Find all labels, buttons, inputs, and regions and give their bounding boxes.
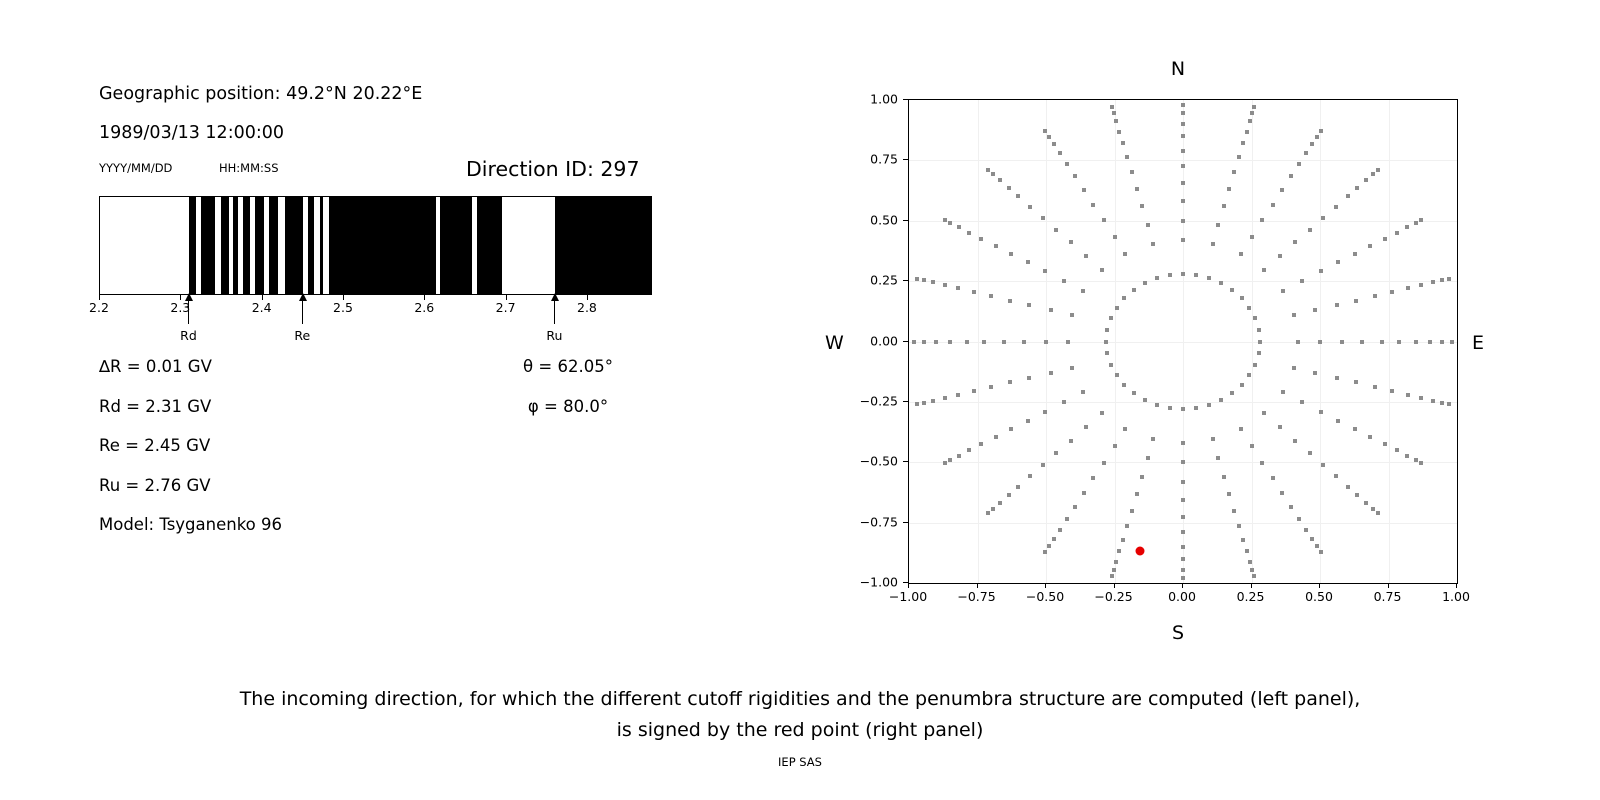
direction-point (1300, 279, 1304, 283)
direction-point (1262, 411, 1266, 415)
penumbra-forbidden-band (477, 197, 502, 294)
direction-point (1232, 170, 1236, 174)
direction-point (1044, 340, 1048, 344)
direction-point (1431, 399, 1435, 403)
direction-point (1354, 380, 1358, 384)
gridline-horizontal (909, 523, 1457, 524)
direction-point (1058, 528, 1062, 532)
direction-point (1405, 454, 1409, 458)
direction-point (1105, 351, 1109, 355)
direction-point (1364, 501, 1368, 505)
direction-map-y-tick-label: 0.50 (843, 212, 898, 227)
direction-point (1181, 149, 1185, 153)
direction-point (1123, 427, 1127, 431)
direction-point (1300, 400, 1304, 404)
direction-point (1340, 340, 1344, 344)
direction-point (1151, 242, 1155, 246)
direction-map-x-tick (1456, 583, 1457, 588)
direction-point (967, 231, 971, 235)
direction-point (948, 458, 952, 462)
direction-point (1355, 186, 1359, 190)
direction-point (1380, 340, 1384, 344)
penumbra-forbidden-band (329, 197, 436, 294)
direction-point (1181, 480, 1185, 484)
direction-point (1353, 427, 1357, 431)
direction-map-y-tick-label: −0.25 (843, 393, 898, 408)
direction-point (989, 385, 993, 389)
direction-point (1440, 340, 1444, 344)
direction-point (1104, 340, 1108, 344)
direction-map-y-tick (903, 461, 908, 462)
direction-point (1194, 406, 1198, 410)
direction-point (1181, 164, 1185, 168)
direction-point (1181, 545, 1185, 549)
direction-point (1181, 122, 1185, 126)
penumbra-marker-label-rd: Rd (180, 328, 197, 343)
direction-map-y-tick (903, 280, 908, 281)
direction-point (1253, 316, 1257, 320)
compass-south-label: S (1172, 622, 1184, 644)
penumbra-forbidden-band (221, 197, 229, 294)
direction-map-x-tick-label: −0.50 (1026, 589, 1064, 604)
direction-point (1248, 560, 1252, 564)
direction-point (1239, 252, 1243, 256)
direction-point (1114, 560, 1118, 564)
direction-map-y-tick (903, 99, 908, 100)
compass-north-label: N (1171, 58, 1185, 80)
direction-point (1216, 223, 1220, 227)
direction-point (1008, 299, 1012, 303)
direction-point (1260, 461, 1264, 465)
direction-point (1232, 509, 1236, 513)
direction-point (1250, 444, 1254, 448)
direction-point (1390, 290, 1394, 294)
direction-point (912, 340, 916, 344)
direction-map-y-tick (903, 522, 908, 523)
direction-point (1280, 491, 1284, 495)
direction-point (1252, 105, 1256, 109)
direction-point (1406, 393, 1410, 397)
penumbra-tick-label: 2.2 (89, 300, 109, 315)
parameter-line: Model: Tsyganenko 96 (99, 515, 282, 534)
direction-point (1241, 141, 1245, 145)
direction-point (1304, 151, 1308, 155)
direction-point (1271, 476, 1275, 480)
direction-point (1239, 427, 1243, 431)
direction-point (1211, 437, 1215, 441)
direction-point (1112, 111, 1116, 115)
penumbra-x-axis: 2.22.32.42.52.62.72.8 (99, 295, 652, 309)
penumbra-tick-label: 2.7 (496, 300, 516, 315)
direction-point (1334, 474, 1338, 478)
direction-point (1292, 366, 1296, 370)
direction-point (1082, 188, 1086, 192)
direction-point (1113, 235, 1117, 239)
caption-line-1: The incoming direction, for which the di… (0, 684, 1600, 715)
direction-point (1181, 272, 1185, 276)
direction-point (1181, 515, 1185, 519)
direction-point (1065, 162, 1069, 166)
penumbra-forbidden-band (233, 197, 238, 294)
direction-point (1315, 544, 1319, 548)
direction-point (1073, 174, 1077, 178)
direction-map-y-tick-label: 0.25 (843, 273, 898, 288)
direction-point (1280, 188, 1284, 192)
direction-point (1237, 524, 1241, 528)
direction-point (1440, 401, 1444, 405)
direction-point (931, 280, 935, 284)
direction-point (1271, 203, 1275, 207)
penumbra-marker-label-ru: Ru (546, 328, 562, 343)
direction-point (1007, 186, 1011, 190)
compass-east-label: E (1472, 332, 1484, 354)
direction-point (1130, 509, 1134, 513)
direction-point (1227, 492, 1231, 496)
direction-map-x-tick-label: 0.00 (1168, 589, 1196, 604)
penumbra-marker-arrow-rd (188, 294, 189, 324)
direction-point (1278, 425, 1282, 429)
direction-point (1293, 439, 1297, 443)
direction-point (1240, 383, 1244, 387)
penumbra-forbidden-band (308, 197, 314, 294)
direction-point (979, 442, 983, 446)
penumbra-forbidden-band (201, 197, 215, 294)
direction-point (1419, 396, 1423, 400)
direction-point (1084, 425, 1088, 429)
direction-point (1016, 194, 1020, 198)
direction-point (1313, 308, 1317, 312)
direction-point (1062, 400, 1066, 404)
direction-point (982, 340, 986, 344)
direction-point (1262, 268, 1266, 272)
penumbra-tick-label: 2.8 (577, 300, 597, 315)
direction-map-x-tick (977, 583, 978, 588)
compass-west-label: W (825, 332, 844, 354)
direction-map-x-tick-label: 1.00 (1442, 589, 1470, 604)
direction-point (1336, 260, 1340, 264)
direction-point (1373, 294, 1377, 298)
direction-point (1428, 340, 1432, 344)
direction-map-y-tick (903, 220, 908, 221)
direction-point (1081, 289, 1085, 293)
selected-direction-marker (1135, 546, 1144, 555)
direction-point (1240, 296, 1244, 300)
direction-point (1043, 269, 1047, 273)
direction-point (1115, 373, 1119, 377)
direction-point (1296, 340, 1300, 344)
direction-point (1065, 517, 1069, 521)
direction-point (1091, 476, 1095, 480)
direction-point (1091, 203, 1095, 207)
direction-point (1102, 461, 1106, 465)
time-format-hint: HH:MM:SS (219, 161, 279, 175)
penumbra-tick-label: 2.5 (333, 300, 353, 315)
direction-point (1230, 391, 1234, 395)
direction-point (915, 402, 919, 406)
penumbra-marker-arrow-re (302, 294, 303, 324)
parameter-line: ∆R = 0.01 GV (99, 357, 212, 376)
direction-point (1346, 194, 1350, 198)
direction-point (1043, 550, 1047, 554)
direction-point (1100, 411, 1104, 415)
direction-point (1354, 299, 1358, 303)
direction-map-x-tick (1182, 583, 1183, 588)
direction-point (1260, 218, 1264, 222)
penumbra-forbidden-band (255, 197, 265, 294)
direction-point (1250, 111, 1254, 115)
direction-point (1313, 371, 1317, 375)
direction-point (1207, 403, 1211, 407)
direction-point (1054, 451, 1058, 455)
direction-point (972, 389, 976, 393)
direction-point (1073, 505, 1077, 509)
direction-point (1230, 288, 1234, 292)
direction-point (1112, 568, 1116, 572)
direction-point (1082, 491, 1086, 495)
direction-point (1248, 119, 1252, 123)
direction-map-x-tick (1388, 583, 1389, 588)
direction-point (1321, 463, 1325, 467)
direction-point (1181, 111, 1185, 115)
direction-point (1292, 313, 1296, 317)
direction-map-y-tick-label: 0.75 (843, 152, 898, 167)
direction-point (1315, 135, 1319, 139)
direction-point (1168, 273, 1172, 277)
direction-point (1146, 456, 1150, 460)
direction-point (1395, 231, 1399, 235)
direction-point (1181, 460, 1185, 464)
direction-point (1043, 410, 1047, 414)
direction-point (956, 286, 960, 290)
direction-point (922, 340, 926, 344)
direction-point (1397, 340, 1401, 344)
direction-point (1414, 458, 1418, 462)
direction-point (1222, 475, 1226, 479)
direction-point (1308, 228, 1312, 232)
penumbra-marker-label-re: Re (294, 328, 310, 343)
direction-point (1151, 437, 1155, 441)
direction-point (1319, 129, 1323, 133)
parameter-line-angle: φ = 80.0° (528, 397, 608, 416)
figure-caption: The incoming direction, for which the di… (0, 684, 1600, 746)
direction-point (1431, 280, 1435, 284)
direction-point (1052, 537, 1056, 541)
direction-point (1008, 380, 1012, 384)
direction-point (1121, 141, 1125, 145)
direction-point (1028, 474, 1032, 478)
direction-map-x-tick-label: 0.25 (1237, 589, 1265, 604)
direction-point (956, 393, 960, 397)
direction-map-x-tick-label: 0.50 (1305, 589, 1333, 604)
direction-point (998, 178, 1002, 182)
direction-point (1237, 155, 1241, 159)
penumbra-forbidden-band (555, 197, 652, 294)
penumbra-chart (99, 196, 652, 295)
direction-point (1122, 383, 1126, 387)
direction-id-label: Direction ID: 297 (466, 157, 640, 181)
direction-point (1047, 135, 1051, 139)
direction-point (1281, 289, 1285, 293)
direction-point (1140, 475, 1144, 479)
direction-point (1026, 260, 1030, 264)
caption-line-2: is signed by the red point (right panel) (0, 715, 1600, 746)
direction-point (1318, 340, 1322, 344)
direction-point (1419, 461, 1423, 465)
direction-point (1258, 340, 1262, 344)
direction-point (1336, 419, 1340, 423)
direction-point (1117, 549, 1121, 553)
direction-point (1245, 130, 1249, 134)
direction-point (1419, 218, 1423, 222)
direction-point (1308, 451, 1312, 455)
direction-point (1319, 550, 1323, 554)
direction-point (1253, 363, 1257, 367)
direction-point (1069, 439, 1073, 443)
penumbra-forbidden-band (440, 197, 473, 294)
direction-point (1146, 223, 1150, 227)
direction-point (1007, 493, 1011, 497)
gridline-horizontal (909, 160, 1457, 161)
direction-point (1041, 463, 1045, 467)
direction-point (1250, 235, 1254, 239)
direction-point (957, 454, 961, 458)
direction-map-x-tick (908, 583, 909, 588)
direction-point (1143, 398, 1147, 402)
direction-point (1216, 456, 1220, 460)
direction-point (1102, 218, 1106, 222)
parameter-line: Ru = 2.76 GV (99, 476, 211, 495)
direction-point (1181, 568, 1185, 572)
direction-point (1143, 281, 1147, 285)
direction-point (1414, 221, 1418, 225)
direction-map-y-tick-label: −0.75 (843, 514, 898, 529)
direction-point (1113, 444, 1117, 448)
direction-point (1211, 242, 1215, 246)
direction-point (1009, 252, 1013, 256)
penumbra-plot-area (99, 196, 652, 295)
direction-point (1319, 410, 1323, 414)
direction-point (1406, 286, 1410, 290)
direction-point (1168, 406, 1172, 410)
direction-point (986, 511, 990, 515)
direction-point (1027, 376, 1031, 380)
direction-point (1360, 340, 1364, 344)
direction-map-y-tick-label: 1.00 (843, 92, 898, 107)
right-panel: −1.00−0.75−0.50−0.250.000.250.500.751.00… (760, 0, 1600, 660)
direction-point (1181, 199, 1185, 203)
direction-point (934, 340, 938, 344)
direction-point (1227, 187, 1231, 191)
direction-point (1155, 403, 1159, 407)
direction-point (1293, 240, 1297, 244)
direction-map-x-tick (1114, 583, 1115, 588)
direction-point (1181, 238, 1185, 242)
direction-point (1222, 204, 1226, 208)
direction-point (1049, 308, 1053, 312)
direction-point (1132, 288, 1136, 292)
direction-point (1181, 103, 1185, 107)
gridline-horizontal (909, 281, 1457, 282)
direction-point (1450, 340, 1454, 344)
direction-point (1247, 373, 1251, 377)
direction-point (1140, 204, 1144, 208)
direction-point (1181, 576, 1185, 580)
date-format-hint: YYYY/MM/DD (99, 161, 172, 175)
penumbra-forbidden-band (320, 197, 323, 294)
direction-map-x-tick (1045, 583, 1046, 588)
direction-point (979, 237, 983, 241)
direction-point (1028, 205, 1032, 209)
direction-point (1062, 279, 1066, 283)
direction-point (1376, 511, 1380, 515)
direction-point (1181, 441, 1185, 445)
direction-point (1181, 407, 1185, 411)
direction-point (967, 448, 971, 452)
direction-point (1289, 174, 1293, 178)
direction-point (1297, 162, 1301, 166)
direction-point (1440, 278, 1444, 282)
direction-point (1353, 252, 1357, 256)
direction-point (1052, 142, 1056, 146)
penumbra-forbidden-band (243, 197, 250, 294)
direction-map-y-tick (903, 341, 908, 342)
penumbra-forbidden-band (269, 197, 278, 294)
direction-point (1376, 168, 1380, 172)
direction-point (1049, 371, 1053, 375)
direction-point (1310, 142, 1314, 146)
parameter-line-angle: θ = 62.05° (523, 357, 613, 376)
direction-point (1084, 254, 1088, 258)
direction-point (1368, 435, 1372, 439)
penumbra-marker-arrow-ru (554, 294, 555, 324)
direction-point (1390, 389, 1394, 393)
direction-point (943, 396, 947, 400)
direction-point (1066, 340, 1070, 344)
parameter-line: Rd = 2.31 GV (99, 397, 211, 416)
direction-point (1447, 402, 1451, 406)
direction-point (986, 168, 990, 172)
direction-map-x-tick-label: −1.00 (889, 589, 927, 604)
direction-point (1022, 340, 1026, 344)
direction-map-x-tick-label: −0.25 (1094, 589, 1132, 604)
direction-point (1241, 538, 1245, 542)
datetime-label: 1989/03/13 12:00:00 (99, 123, 284, 143)
direction-map-y-tick-label: 0.00 (843, 333, 898, 348)
penumbra-forbidden-band (189, 197, 196, 294)
direction-point (1123, 252, 1127, 256)
direction-point (1122, 296, 1126, 300)
direction-point (1383, 442, 1387, 446)
direction-point (1109, 316, 1113, 320)
direction-point (1027, 303, 1031, 307)
direction-point (1181, 134, 1185, 138)
gridline-horizontal (909, 342, 1457, 343)
direction-point (948, 340, 952, 344)
direction-point (915, 277, 919, 281)
direction-point (972, 290, 976, 294)
direction-point (1070, 313, 1074, 317)
direction-point (1194, 273, 1198, 277)
direction-point (1373, 385, 1377, 389)
direction-point (1054, 228, 1058, 232)
direction-map-x-tick (1251, 583, 1252, 588)
direction-point (1100, 268, 1104, 272)
direction-point (1447, 277, 1451, 281)
direction-map-y-tick-label: −0.50 (843, 454, 898, 469)
direction-point (1335, 303, 1339, 307)
direction-point (965, 340, 969, 344)
direction-point (948, 221, 952, 225)
